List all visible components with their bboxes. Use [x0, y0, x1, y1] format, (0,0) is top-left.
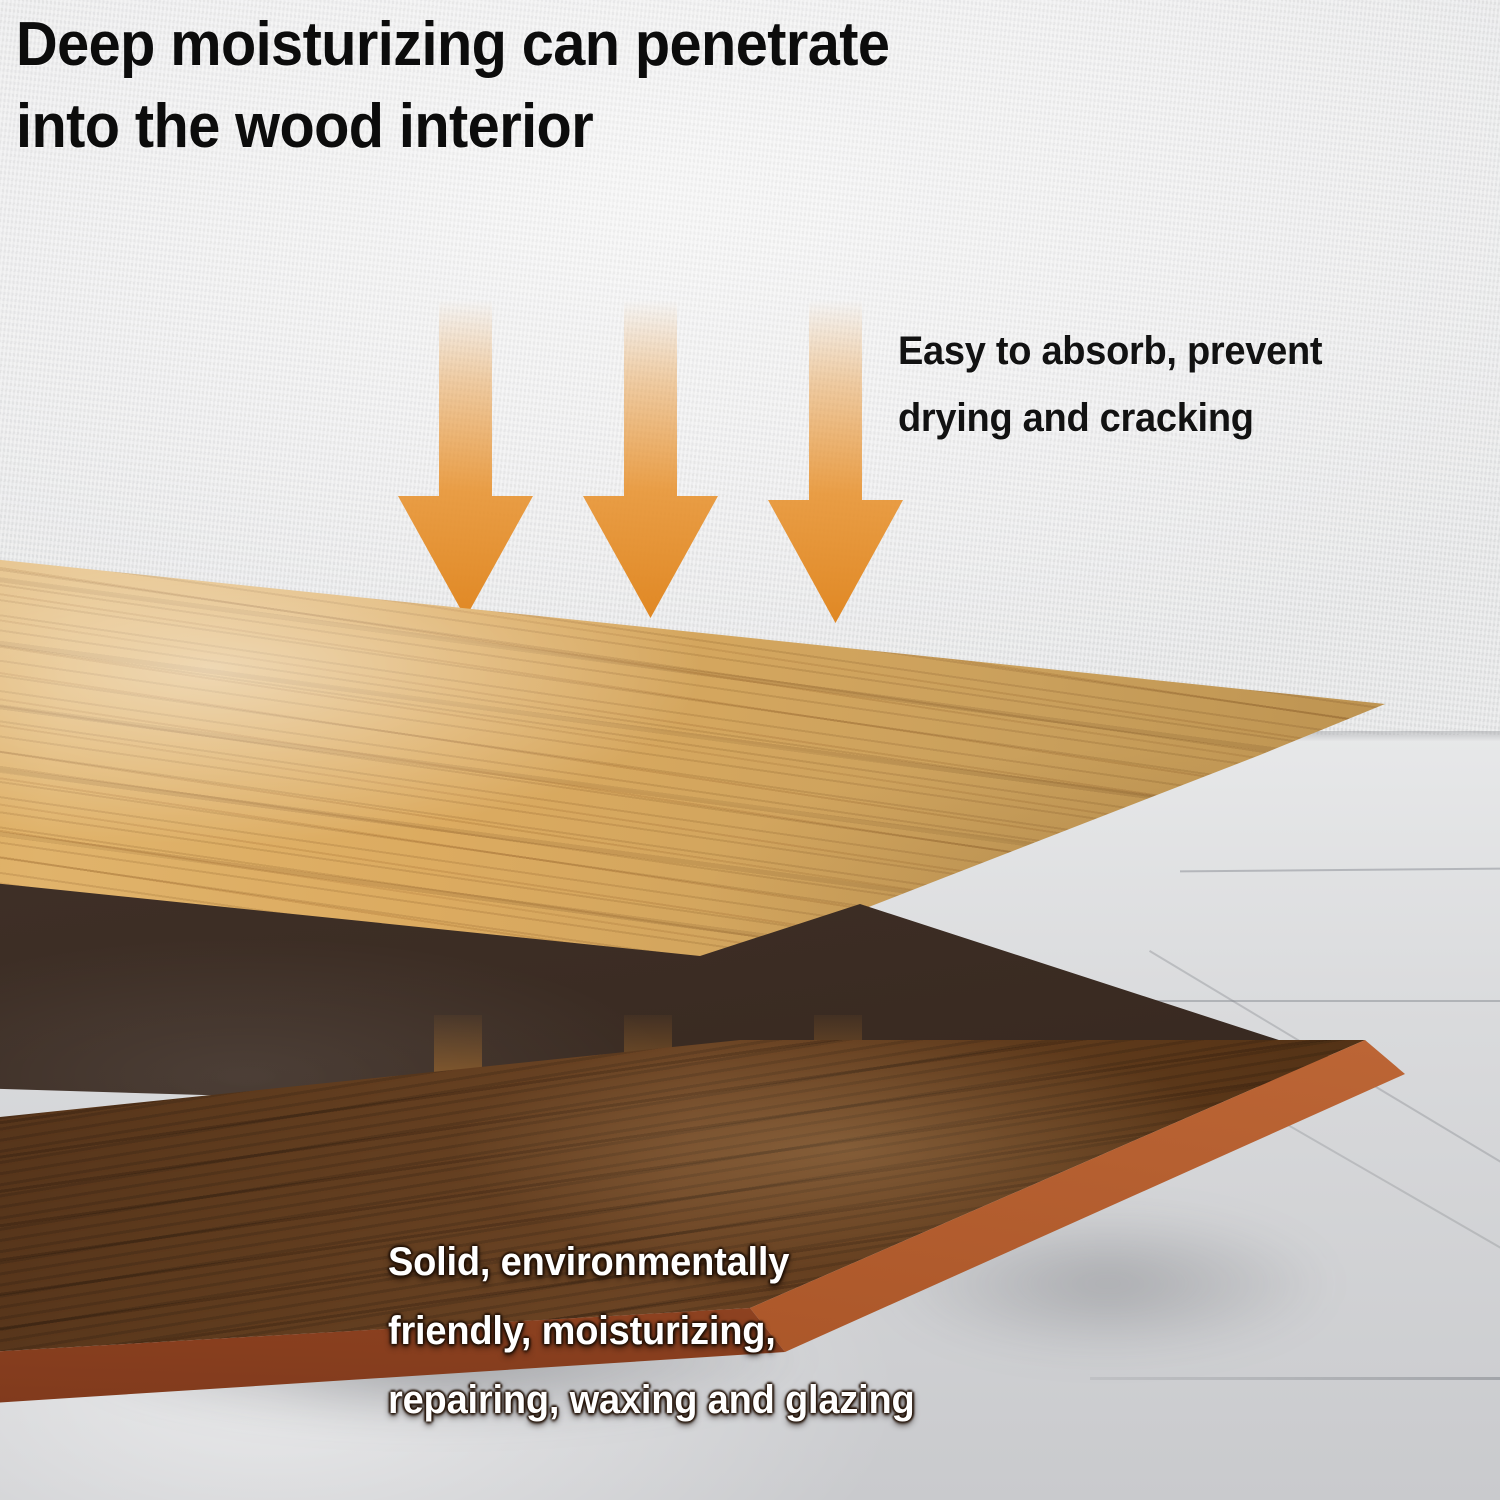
- down-arrow-icon: [583, 300, 718, 620]
- callout-absorption: Easy to absorb, prevent drying and crack…: [898, 318, 1487, 452]
- callout-benefits: Solid, environmentally friendly, moistur…: [388, 1228, 1205, 1434]
- callout-bottom-line-2: friendly, moisturizing,: [388, 1297, 1205, 1366]
- product-infographic: Deep moisturizing can penetrate into the…: [0, 0, 1500, 1500]
- down-arrow-icon: [398, 300, 533, 620]
- page-title: Deep moisturizing can penetrate into the…: [16, 4, 1225, 168]
- headline-line-2: into the wood interior: [16, 86, 1225, 168]
- callout-bottom-line-1: Solid, environmentally: [388, 1228, 1205, 1297]
- callout-bottom-line-3: repairing, waxing and glazing: [388, 1366, 1205, 1435]
- down-arrow-icon: [768, 300, 903, 625]
- callout-right-line-1: Easy to absorb, prevent: [898, 318, 1487, 385]
- headline-line-1: Deep moisturizing can penetrate: [16, 4, 1225, 86]
- callout-right-line-2: drying and cracking: [898, 385, 1487, 452]
